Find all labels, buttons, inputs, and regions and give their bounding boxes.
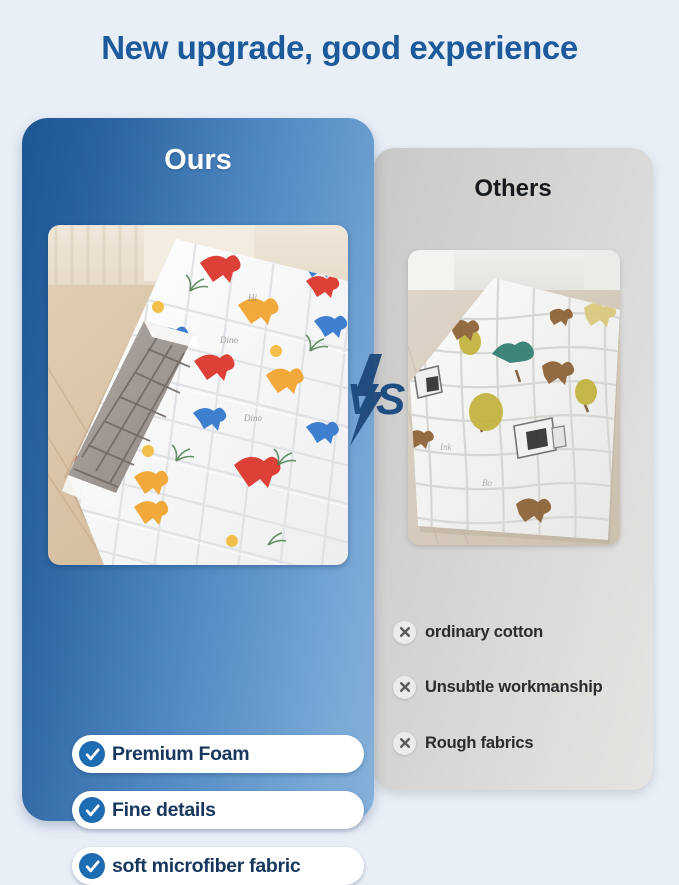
con-row-label: Unsubtle workmanship bbox=[425, 678, 603, 697]
ours-product-photo: Dino Dino Dino Hi Hi bbox=[48, 225, 348, 565]
feature-pill-label: soft microfiber fabric bbox=[112, 855, 300, 878]
con-row-label: Rough fabrics bbox=[425, 734, 533, 753]
svg-text:Dino: Dino bbox=[219, 335, 239, 345]
svg-text:Bo: Bo bbox=[482, 478, 492, 488]
con-row-ordinary-cotton[interactable]: ordinary cotton bbox=[393, 617, 543, 647]
check-circle-icon bbox=[79, 853, 105, 879]
svg-text:Hi: Hi bbox=[247, 293, 257, 303]
page-title: New upgrade, good experience bbox=[0, 29, 679, 67]
con-row-label: ordinary cotton bbox=[425, 623, 543, 642]
ours-card: Ours bbox=[22, 118, 374, 821]
x-circle-icon bbox=[393, 732, 416, 755]
svg-text:Ink: Ink bbox=[439, 442, 452, 452]
others-card-title: Others bbox=[373, 175, 653, 203]
feature-pill-soft-microfiber-fabric[interactable]: soft microfiber fabric bbox=[72, 847, 364, 885]
feature-pill-premium-foam[interactable]: Premium Foam bbox=[72, 735, 364, 773]
others-product-photo: Ink Bo bbox=[408, 250, 620, 545]
vs-label: VS bbox=[347, 375, 406, 424]
con-row-unsubtle-workmanship[interactable]: Unsubtle workmanship bbox=[393, 672, 603, 702]
feature-pill-label: Premium Foam bbox=[112, 743, 249, 766]
x-circle-icon bbox=[393, 621, 416, 644]
con-row-rough-fabrics[interactable]: Rough fabrics bbox=[393, 728, 533, 758]
ours-card-title: Ours bbox=[22, 144, 374, 177]
check-circle-icon bbox=[79, 741, 105, 767]
check-circle-icon bbox=[79, 797, 105, 823]
vs-badge: VS bbox=[336, 352, 418, 448]
svg-text:Dino: Dino bbox=[243, 413, 263, 423]
others-card: Others bbox=[373, 148, 653, 790]
feature-pill-label: Fine details bbox=[112, 799, 216, 822]
feature-pill-fine-details[interactable]: Fine details bbox=[72, 791, 364, 829]
x-circle-icon bbox=[393, 676, 416, 699]
